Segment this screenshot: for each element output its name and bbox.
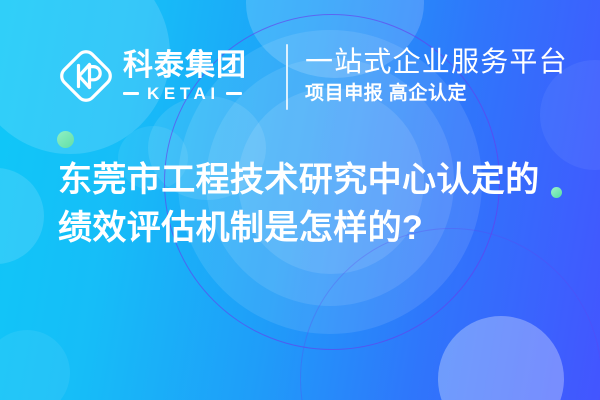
- brand-logo-wordmark: 科泰集团 KETAI: [123, 51, 247, 102]
- brand-logo[interactable]: 科泰集团 KETAI: [58, 48, 247, 104]
- decorative-ring-outline-2: [300, 228, 600, 400]
- brand-name-cn: 科泰集团: [123, 51, 247, 81]
- ketai-diamond-kp-logo-icon: [58, 48, 114, 104]
- decorative-circle-left-bottom: [0, 330, 70, 400]
- wordmark-rule-right-icon: [226, 92, 242, 95]
- tagline-secondary: 项目申报 高企认定: [305, 84, 568, 105]
- wordmark-rule-left-icon: [123, 92, 139, 95]
- tagline-primary: 一站式企业服务平台: [305, 47, 568, 77]
- decorative-circle-left-edge: [0, 168, 44, 264]
- header-divider: [286, 44, 288, 110]
- promo-banner: 科泰集团 KETAI 一站式企业服务平台 项目申报 高企认定 东莞市工程技术研究…: [0, 0, 600, 400]
- page-title: 东莞市工程技术研究中心认定的绩效评估机制是怎样的?: [58, 156, 558, 252]
- header-tagline: 一站式企业服务平台 项目申报 高企认定: [305, 36, 568, 116]
- accent-dot-green-large: [57, 131, 74, 148]
- brand-name-en-row: KETAI: [123, 85, 247, 102]
- banner-header: 科泰集团 KETAI 一站式企业服务平台 项目申报 高企认定: [0, 36, 600, 116]
- decorative-circle-bottom-right: [438, 316, 564, 400]
- brand-name-en: KETAI: [139, 85, 226, 102]
